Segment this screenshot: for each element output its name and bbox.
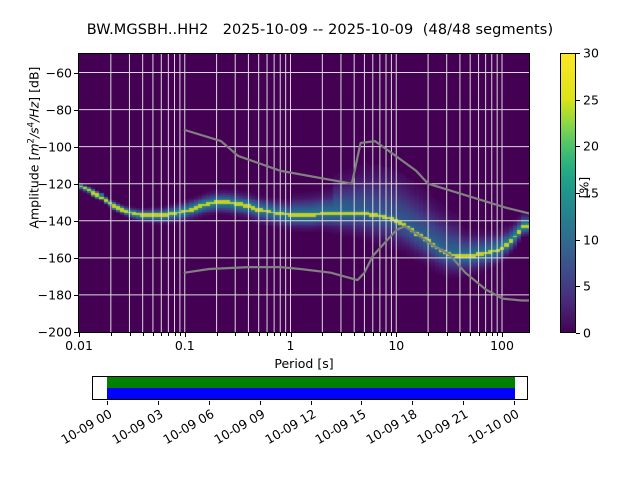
x-axis-tick bbox=[364, 333, 365, 336]
x-axis-tick bbox=[235, 333, 236, 336]
x-axis-tick bbox=[175, 333, 176, 336]
coverage-timeline[interactable] bbox=[92, 376, 528, 400]
y-axis-label: Amplitude [m2/s4/Hz] [dB] bbox=[26, 18, 41, 278]
x-axis-tick bbox=[479, 333, 480, 336]
page-title: BW.MGSBH..HH2 2025-10-09 -- 2025-10-09 (… bbox=[0, 22, 640, 38]
coverage-bar-green bbox=[107, 377, 515, 388]
x-axis-tick bbox=[460, 333, 461, 336]
timeline-tick bbox=[209, 401, 210, 405]
x-axis-tick bbox=[341, 333, 342, 336]
colorbar-tick-label: 25 bbox=[583, 92, 599, 107]
x-axis-tick bbox=[143, 333, 144, 336]
x-axis-tick bbox=[354, 333, 355, 336]
x-axis-tick bbox=[386, 333, 387, 336]
x-axis-tick bbox=[428, 333, 429, 336]
x-axis-tick bbox=[274, 333, 275, 336]
y-axis-tick-label: −100 bbox=[16, 139, 72, 154]
x-axis-tick bbox=[280, 333, 281, 336]
colorbar bbox=[560, 53, 576, 333]
ppsd-canvas bbox=[79, 54, 529, 332]
timeline-tick bbox=[514, 401, 515, 405]
y-axis-tick-label: −160 bbox=[16, 250, 72, 265]
x-axis-tick bbox=[396, 333, 397, 337]
ppsd-plot-area[interactable] bbox=[78, 53, 530, 333]
colorbar-tick-label: 5 bbox=[583, 279, 591, 294]
x-axis-tick-label: 1 bbox=[287, 338, 295, 353]
colorbar-tick bbox=[576, 286, 580, 287]
timeline-tick bbox=[311, 401, 312, 405]
y-axis-label-text: Amplitude [m2/s4/Hz] [dB] bbox=[27, 67, 42, 229]
x-axis-tick-label: 0.1 bbox=[175, 338, 195, 353]
y-axis-tick bbox=[74, 332, 78, 333]
x-axis-tick bbox=[168, 333, 169, 336]
colorbar-tick bbox=[576, 100, 580, 101]
x-axis-tick bbox=[286, 333, 287, 336]
x-axis-tick bbox=[322, 333, 323, 336]
y-axis-tick bbox=[74, 295, 78, 296]
y-axis-tick bbox=[74, 110, 78, 111]
y-axis-tick bbox=[74, 147, 78, 148]
x-axis-tick bbox=[217, 333, 218, 336]
x-axis-tick bbox=[267, 333, 268, 336]
x-axis-tick bbox=[291, 333, 292, 337]
x-axis-tick bbox=[497, 333, 498, 336]
y-axis-tick-label: −80 bbox=[16, 102, 72, 117]
timeline-tick bbox=[260, 401, 261, 405]
x-axis-tick bbox=[161, 333, 162, 336]
x-axis-label: Period [s] bbox=[78, 356, 530, 371]
ppsd-figure: BW.MGSBH..HH2 2025-10-09 -- 2025-10-09 (… bbox=[0, 0, 640, 480]
timeline-tick bbox=[158, 401, 159, 405]
x-axis-tick-label: 10 bbox=[388, 338, 404, 353]
x-axis-tick bbox=[391, 333, 392, 336]
coverage-bars bbox=[93, 377, 527, 399]
timeline-tick bbox=[412, 401, 413, 405]
coverage-bar-blue bbox=[107, 388, 515, 399]
x-axis-tick bbox=[470, 333, 471, 336]
x-axis-tick bbox=[185, 333, 186, 337]
x-axis-tick bbox=[373, 333, 374, 336]
x-axis-tick-label: 0.01 bbox=[65, 338, 93, 353]
y-axis-tick bbox=[74, 73, 78, 74]
x-axis-tick bbox=[153, 333, 154, 336]
x-axis-tick bbox=[447, 333, 448, 336]
colorbar-tick-label: 30 bbox=[583, 46, 599, 61]
colorbar-tick bbox=[576, 53, 580, 54]
y-axis-tick-label: −200 bbox=[16, 325, 72, 340]
x-axis-tick bbox=[486, 333, 487, 336]
timeline-tick bbox=[361, 401, 362, 405]
timeline-tick bbox=[107, 401, 108, 405]
y-axis-tick-label: −180 bbox=[16, 287, 72, 302]
x-axis-tick bbox=[492, 333, 493, 336]
timeline-tick bbox=[463, 401, 464, 405]
y-axis-tick bbox=[74, 258, 78, 259]
colorbar-tick bbox=[576, 333, 580, 334]
x-axis-tick bbox=[248, 333, 249, 336]
y-axis-tick bbox=[74, 221, 78, 222]
y-axis-tick-label: −120 bbox=[16, 176, 72, 191]
x-axis-tick bbox=[79, 333, 80, 337]
y-axis-tick-label: −60 bbox=[16, 65, 72, 80]
x-axis-tick bbox=[130, 333, 131, 336]
colorbar-tick-label: 0 bbox=[583, 326, 591, 341]
noise-model-lines bbox=[79, 54, 529, 332]
y-axis-tick-label: −140 bbox=[16, 213, 72, 228]
x-axis-tick bbox=[259, 333, 260, 336]
x-axis-tick-label: 100 bbox=[490, 338, 514, 353]
colorbar-label: [%] bbox=[577, 128, 592, 248]
x-axis-tick bbox=[111, 333, 112, 336]
y-axis-tick bbox=[74, 184, 78, 185]
x-axis-tick bbox=[502, 333, 503, 337]
x-axis-tick bbox=[380, 333, 381, 336]
x-axis-tick bbox=[180, 333, 181, 336]
